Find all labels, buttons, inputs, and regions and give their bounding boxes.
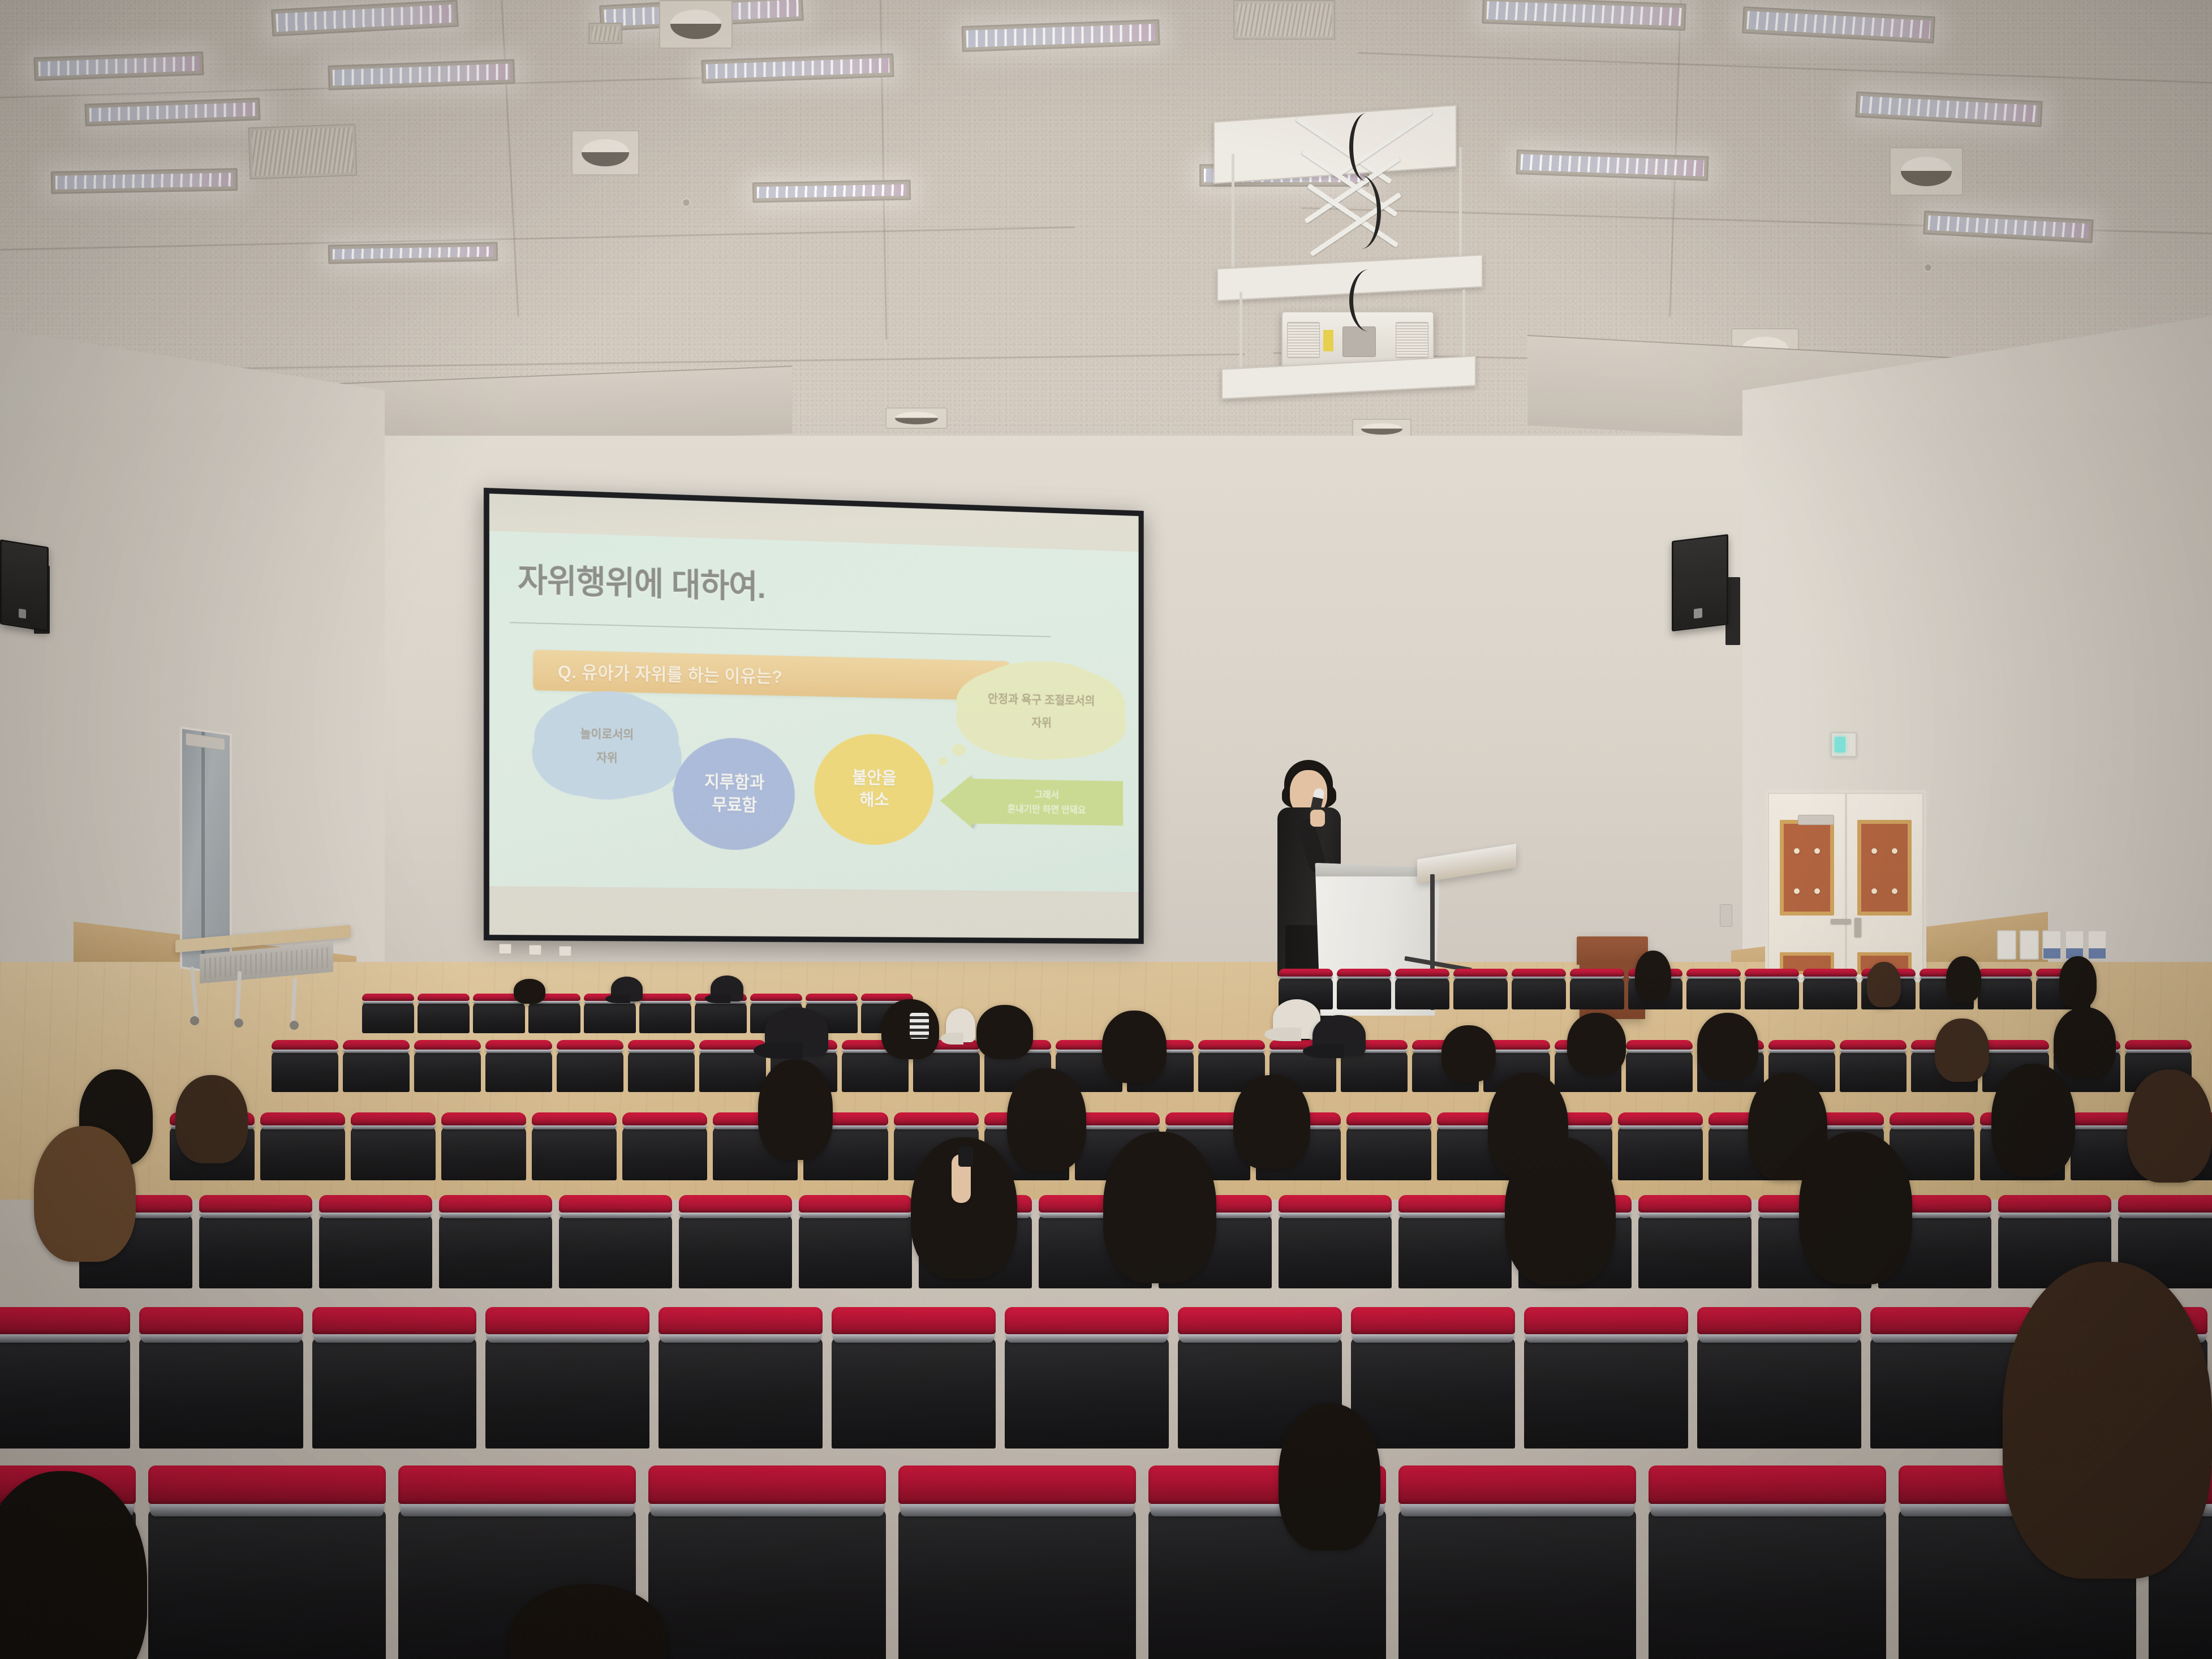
seat[interactable]: [418, 994, 470, 1033]
seat[interactable]: [648, 1465, 886, 1659]
seat[interactable]: [1337, 969, 1391, 1009]
door-panel: [1857, 820, 1912, 916]
audience-head-foreground: [1279, 1403, 1380, 1550]
seat[interactable]: [628, 1040, 695, 1092]
seat-row: [0, 1465, 2212, 1659]
seat[interactable]: [1570, 969, 1624, 1009]
audience-head: [976, 1005, 1033, 1059]
bubble-tail-dot: [938, 758, 947, 766]
seat[interactable]: [1803, 969, 1857, 1009]
mobile-phone[interactable]: [958, 1146, 973, 1167]
audience-head: [1867, 962, 1901, 1007]
ceiling-downlight: [1890, 147, 1963, 196]
audience-cap: [946, 1008, 975, 1042]
seat[interactable]: [1745, 969, 1799, 1009]
seat[interactable]: [1453, 969, 1508, 1009]
audience-head: [1635, 951, 1671, 1002]
seat[interactable]: [319, 1195, 432, 1288]
projector-lift: [1208, 113, 1525, 396]
seat[interactable]: [139, 1307, 303, 1449]
light-switch[interactable]: [2020, 930, 2039, 960]
thought-bubble-regulation: 안정과 욕구 조절로서의 자위: [966, 667, 1117, 756]
table-leg: [190, 966, 199, 1018]
lift-rod: [1232, 154, 1234, 273]
audience-head: [1991, 1064, 2075, 1177]
seat[interactable]: [362, 994, 414, 1033]
exit-sign: [1831, 732, 1857, 757]
lectern-top: [1577, 936, 1647, 965]
seat-row: [272, 1040, 2192, 1092]
audience-head: [1007, 1068, 1086, 1171]
seat[interactable]: [485, 1307, 649, 1449]
light-switch[interactable]: [2088, 930, 2107, 960]
audience-head: [1103, 1132, 1216, 1283]
light-switch[interactable]: [2042, 930, 2062, 960]
ceiling-sprinkler: [682, 198, 691, 207]
seat[interactable]: [414, 1040, 481, 1092]
oval-blue-line1: 지루함과: [704, 771, 764, 795]
ceiling-vent: [248, 124, 357, 180]
seat[interactable]: [272, 1040, 338, 1092]
seat[interactable]: [1626, 1040, 1693, 1092]
arrow-body: 그래서 혼내기만 하면 안돼요: [970, 779, 1123, 825]
audience-head: [1102, 1011, 1167, 1083]
bubble-left-line2: 자위: [596, 746, 618, 770]
seat[interactable]: [0, 1307, 130, 1449]
audience-head: [1697, 1013, 1758, 1080]
seat[interactable]: [1398, 1465, 1636, 1659]
light-switch[interactable]: [2065, 930, 2084, 960]
audience-cap: [611, 977, 643, 1002]
callout-arrow: 그래서 혼내기만 하면 안돼요: [940, 770, 1123, 834]
audience-head-foreground: [2003, 1262, 2212, 1579]
seat[interactable]: [679, 1195, 792, 1288]
door-closer: [1798, 815, 1834, 825]
seat[interactable]: [439, 1195, 552, 1288]
slide-title: 자위행위에 대하여.: [518, 553, 765, 608]
ceiling-downlight: [571, 130, 639, 175]
table-caster: [290, 1021, 299, 1030]
audience-cap: [765, 1007, 828, 1056]
door-handle[interactable]: [1854, 918, 1861, 937]
ceiling-downlight: [885, 407, 948, 429]
audience-head: [2054, 1007, 2116, 1078]
seat[interactable]: [343, 1040, 410, 1092]
slide-divider: [510, 622, 1051, 638]
audience-head: [175, 1075, 248, 1163]
audience-cap: [711, 975, 743, 1002]
ceiling-light: [752, 180, 911, 203]
audience-head: [1567, 1013, 1626, 1075]
seat[interactable]: [1840, 1040, 1907, 1092]
audience-head: [514, 979, 545, 1004]
audience-head: [2059, 956, 2097, 1008]
arrow-line1: 그래서: [1035, 787, 1059, 802]
oval-yellow-line2: 해소: [859, 789, 889, 811]
table-caster: [234, 1018, 243, 1028]
lift-rod: [1240, 292, 1242, 378]
audience-head: [1935, 1018, 1989, 1082]
seat[interactable]: [532, 1112, 617, 1180]
audience-cap: [1312, 1015, 1366, 1056]
ceiling-sprinkler: [1923, 263, 1933, 272]
oval-boredom: 지루함과 무료함: [674, 737, 795, 851]
door-handle[interactable]: [1831, 919, 1851, 924]
bubble-tail-dot: [952, 744, 966, 757]
oval-yellow-line1: 불안을: [852, 767, 896, 790]
slide-question-text: Q. 유아가 자위를 하는 이유는?: [558, 657, 782, 688]
oval-anxiety-relief: 불안을 해소: [815, 733, 934, 845]
seat[interactable]: [1512, 969, 1566, 1009]
seat[interactable]: [1005, 1307, 1169, 1449]
speaker-right: [1672, 534, 1728, 631]
screen-surface: 자위행위에 대하여. Q. 유아가 자위를 하는 이유는? 놀이로서의 자위 안…: [489, 493, 1139, 938]
seat[interactable]: [639, 994, 691, 1033]
seat[interactable]: [1978, 969, 2032, 1009]
seat[interactable]: [1279, 1195, 1392, 1288]
projector-cable: [1349, 113, 1383, 181]
seat[interactable]: [1346, 1112, 1431, 1180]
ceiling-downlight: [659, 0, 733, 49]
seat[interactable]: [799, 1195, 912, 1288]
ceiling-vent: [1233, 0, 1335, 40]
slide-question-bar: Q. 유아가 자위를 하는 이유는?: [533, 650, 1010, 700]
table-leg: [291, 978, 297, 1023]
seat[interactable]: [199, 1195, 312, 1288]
lift-rod: [1459, 147, 1462, 273]
seat[interactable]: [312, 1307, 476, 1449]
lift-platform-lower: [1221, 355, 1476, 399]
oval-blue-line2: 무료함: [712, 794, 757, 817]
seat-row: [0, 1307, 2212, 1449]
audience-head: [1233, 1075, 1310, 1169]
seat[interactable]: [1618, 1112, 1703, 1180]
seat[interactable]: [1398, 1195, 1512, 1288]
seat[interactable]: [622, 1112, 707, 1180]
projector-cable: [1341, 175, 1381, 249]
audience-head: [34, 1126, 136, 1262]
audience-head: [1441, 1025, 1496, 1082]
ceiling-vent: [588, 23, 622, 44]
seat[interactable]: [1697, 1307, 1861, 1449]
bubble-right-line2: 자위: [1031, 711, 1052, 734]
light-switch[interactable]: [1997, 930, 2016, 960]
audience-head: [1505, 1137, 1616, 1286]
projector-cable: [1349, 269, 1389, 332]
seat[interactable]: [1524, 1307, 1688, 1449]
door-panel: [1780, 820, 1834, 916]
seat[interactable]: [557, 1040, 623, 1092]
wall-box: [1720, 904, 1732, 927]
bubble-right-line1: 안정과 욕구 조절로서의: [988, 687, 1095, 713]
seat[interactable]: [1351, 1307, 1515, 1449]
seat[interactable]: [1395, 969, 1449, 1009]
table-caster: [190, 1016, 199, 1025]
projection-screen: 자위행위에 대하여. Q. 유아가 자위를 하는 이유는? 놀이로서의 자위 안…: [484, 488, 1144, 944]
presenter-hand: [1310, 810, 1325, 827]
audience-head: [758, 1059, 833, 1160]
screen-clip: [559, 946, 571, 956]
seat[interactable]: [559, 1195, 672, 1288]
seat[interactable]: [1686, 969, 1741, 1009]
door-right-double[interactable]: [1765, 790, 1926, 982]
seat[interactable]: [485, 1040, 552, 1092]
seat[interactable]: [1649, 1465, 1886, 1659]
seat[interactable]: [1638, 1195, 1751, 1288]
presentation-slide: 자위행위에 대하여. Q. 유아가 자위를 하는 이유는? 놀이로서의 자위 안…: [489, 531, 1139, 892]
seat[interactable]: [148, 1465, 386, 1659]
bubble-left-line1: 놀이로서의: [580, 722, 634, 746]
audience-head: [1799, 1132, 1912, 1284]
ceiling-light: [328, 242, 498, 264]
arrow-line2: 혼내기만 하면 안돼요: [1008, 802, 1086, 818]
hair-clip: [910, 1013, 929, 1039]
thought-bubble-play: 놀이로서의 자위: [543, 699, 670, 793]
seat[interactable]: [832, 1307, 996, 1449]
seat[interactable]: [351, 1112, 436, 1180]
audience-head: [1946, 956, 1981, 1003]
auditorium-photo: 자위행위에 대하여. Q. 유아가 자위를 하는 이유는? 놀이로서의 자위 안…: [0, 0, 2212, 1659]
ceiling-light: [51, 168, 238, 194]
screen-clip: [529, 945, 541, 955]
light-switch-panel[interactable]: [1997, 930, 2107, 960]
folding-table: [175, 932, 351, 1023]
seat[interactable]: [441, 1112, 526, 1180]
seat[interactable]: [659, 1307, 823, 1449]
screen-clip: [499, 944, 511, 954]
seat[interactable]: [898, 1465, 1136, 1659]
speaker-left: [0, 539, 49, 632]
door-leaf-right[interactable]: [1846, 793, 1924, 979]
audience-head: [2127, 1069, 2212, 1183]
seat[interactable]: [260, 1112, 345, 1180]
